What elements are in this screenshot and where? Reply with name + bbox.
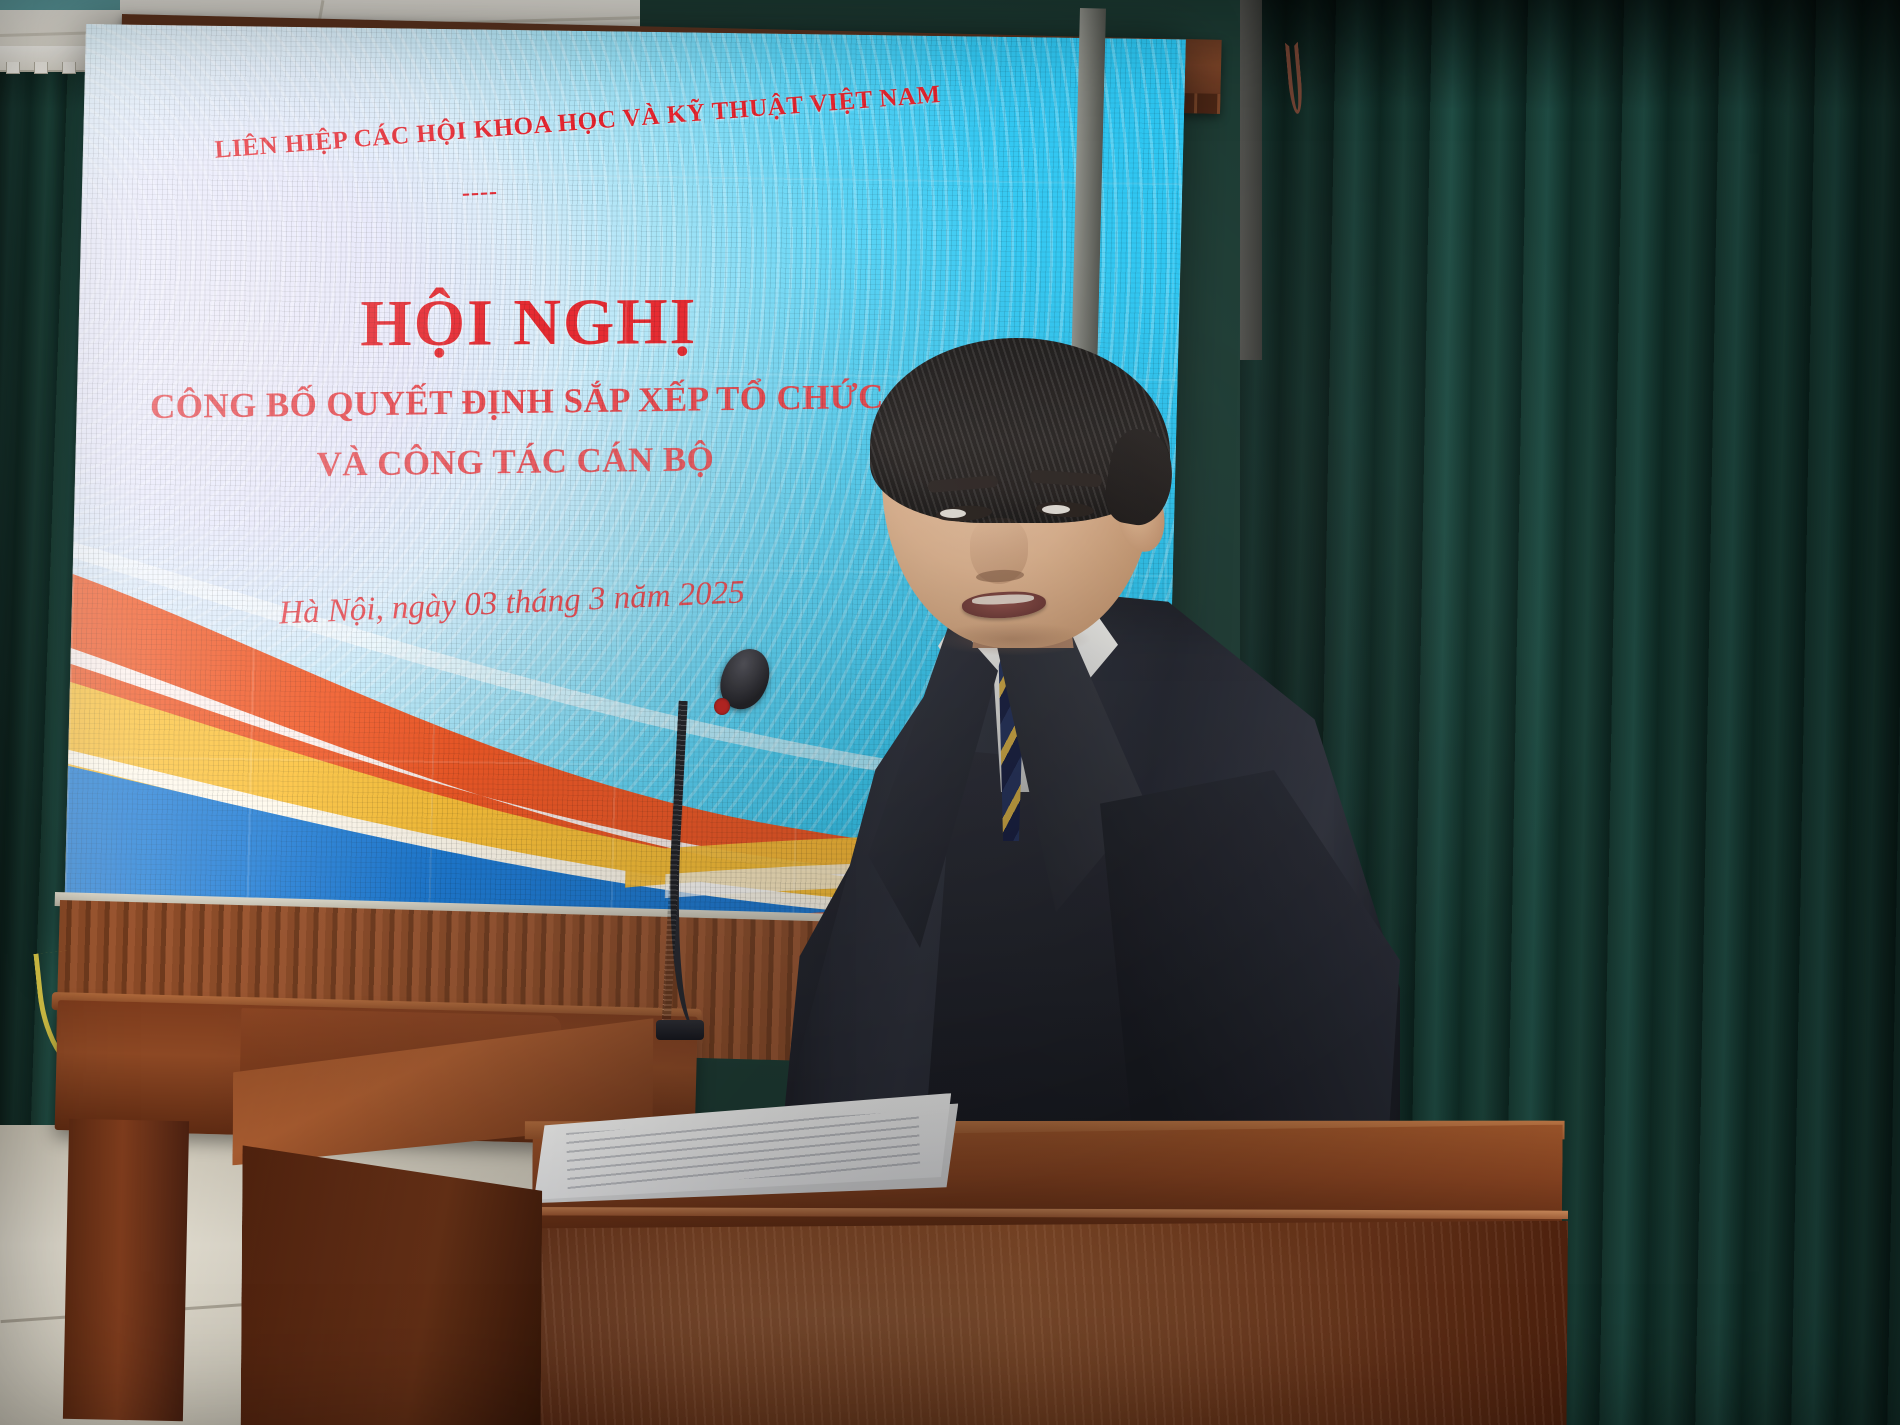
speaker-eye-highlight-left — [940, 509, 966, 518]
wall-edge — [1240, 0, 1262, 360]
speech-documents — [531, 1093, 953, 1200]
podium-wood-grain — [526, 1213, 1568, 1425]
microphone-gooseneck — [661, 701, 740, 1034]
curtain-shadow — [1240, 0, 1900, 110]
gooseneck-microphone — [648, 648, 828, 1068]
podium-front-panel — [526, 1213, 1568, 1425]
conference-photo-scene: LIÊN HIỆP CÁC HỘI KHOA HỌC VÀ KỸ THUẬT V… — [0, 0, 1900, 1425]
back-table-leg — [63, 1119, 189, 1421]
podium — [231, 1015, 1564, 1425]
speaker-eye-highlight-right — [1042, 505, 1070, 514]
screen-glare — [63, 24, 678, 969]
curtain-tieback-hook-icon — [1285, 42, 1304, 115]
speaker-chin-shadow — [932, 622, 1092, 656]
podium-left-side — [240, 1145, 542, 1425]
document-text-lines — [566, 1111, 920, 1190]
ceiling-trim — [0, 0, 120, 10]
microphone-base — [656, 1020, 704, 1040]
microphone-indicator-ring — [714, 698, 730, 715]
